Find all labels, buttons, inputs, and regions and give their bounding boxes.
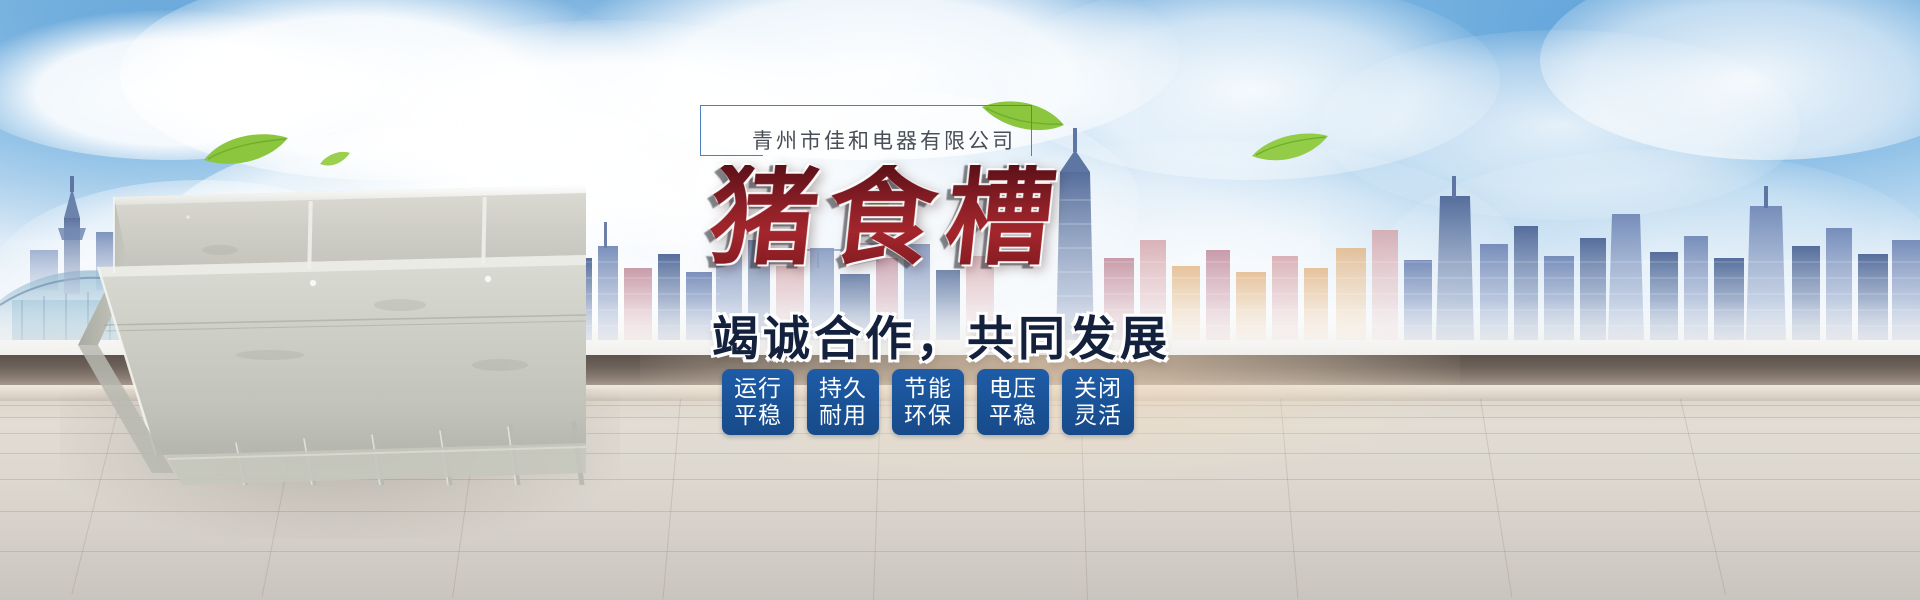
feature-badge-3-line1: 节能 <box>904 375 952 402</box>
subtitle-slogan: 竭诚合作，共同发展 <box>712 300 1171 369</box>
feature-badge-4-line1: 电压 <box>989 375 1037 402</box>
feature-badge-5-line1: 关闭 <box>1074 375 1122 402</box>
feature-badge-1[interactable]: 运行 平稳 <box>722 369 794 435</box>
feature-badge-list: 运行 平稳 持久 耐用 节能 环保 电压 平稳 关闭 灵活 <box>722 369 1134 435</box>
feature-badge-4-line2: 平稳 <box>989 402 1037 429</box>
promo-banner: 青州市佳和电器有限公司 猪食槽 猪食槽 竭诚合作，共同发展 运行 平稳 持久 耐… <box>0 0 1920 600</box>
feature-badge-5[interactable]: 关闭 灵活 <box>1062 369 1134 435</box>
feature-badge-3[interactable]: 节能 环保 <box>892 369 964 435</box>
feature-badge-5-line2: 灵活 <box>1074 402 1122 429</box>
feature-badge-3-line2: 环保 <box>904 402 952 429</box>
leaf-decor-4 <box>1250 130 1330 171</box>
leaf-decor-1 <box>200 130 292 175</box>
feature-badge-1-line2: 平稳 <box>734 402 782 429</box>
feature-badge-2[interactable]: 持久 耐用 <box>807 369 879 435</box>
company-name: 青州市佳和电器有限公司 <box>752 125 1016 155</box>
headline-block: 青州市佳和电器有限公司 猪食槽 猪食槽 竭诚合作，共同发展 <box>690 95 1250 495</box>
leaf-decor-2 <box>318 150 352 173</box>
feature-badge-2-line2: 耐用 <box>819 402 867 429</box>
feature-badge-4[interactable]: 电压 平稳 <box>977 369 1049 435</box>
main-title: 猪食槽 <box>704 165 1069 273</box>
feature-badge-2-line1: 持久 <box>819 375 867 402</box>
product-image-pig-feeding-trough <box>70 155 590 485</box>
feature-badge-1-line1: 运行 <box>734 375 782 402</box>
